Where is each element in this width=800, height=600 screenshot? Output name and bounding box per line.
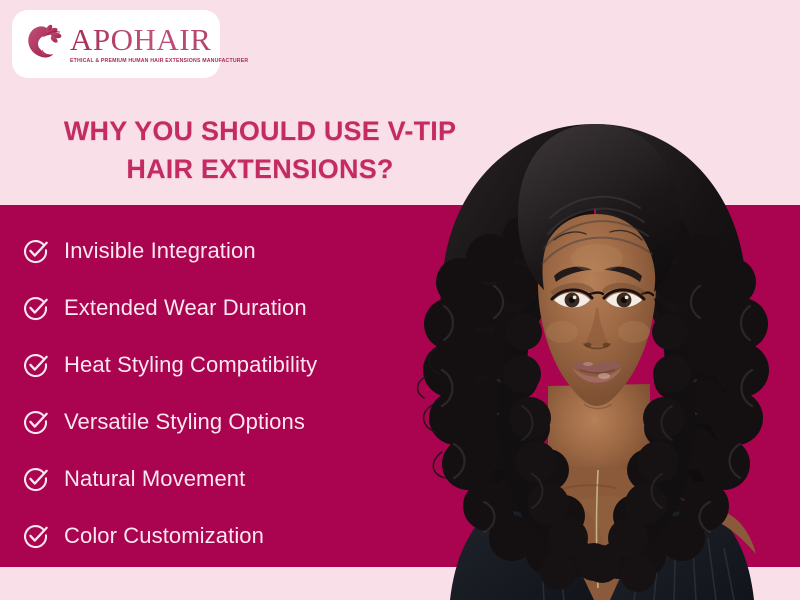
list-item-label: Color Customization xyxy=(64,523,264,549)
list-item-label: Invisible Integration xyxy=(64,238,256,264)
list-item-label: Extended Wear Duration xyxy=(64,295,307,321)
check-circle-icon xyxy=(22,522,50,550)
infographic-canvas: APOHAIR ETHICAL & PREMIUM HUMAN HAIR EXT… xyxy=(0,0,800,600)
brand-logo: APOHAIR ETHICAL & PREMIUM HUMAN HAIR EXT… xyxy=(12,10,220,78)
check-circle-icon xyxy=(22,237,50,265)
list-item-label: Natural Movement xyxy=(64,466,245,492)
brand-tagline: ETHICAL & PREMIUM HUMAN HAIR EXTENSIONS … xyxy=(70,58,248,64)
list-item-label: Heat Styling Compatibility xyxy=(64,352,317,378)
woman-profile-flower-icon xyxy=(22,21,68,67)
check-circle-icon xyxy=(22,294,50,322)
list-item-label: Versatile Styling Options xyxy=(64,409,305,435)
check-circle-icon xyxy=(22,408,50,436)
check-circle-icon xyxy=(22,465,50,493)
model-photo xyxy=(398,118,800,600)
check-circle-icon xyxy=(22,351,50,379)
brand-name: APOHAIR xyxy=(70,24,245,55)
